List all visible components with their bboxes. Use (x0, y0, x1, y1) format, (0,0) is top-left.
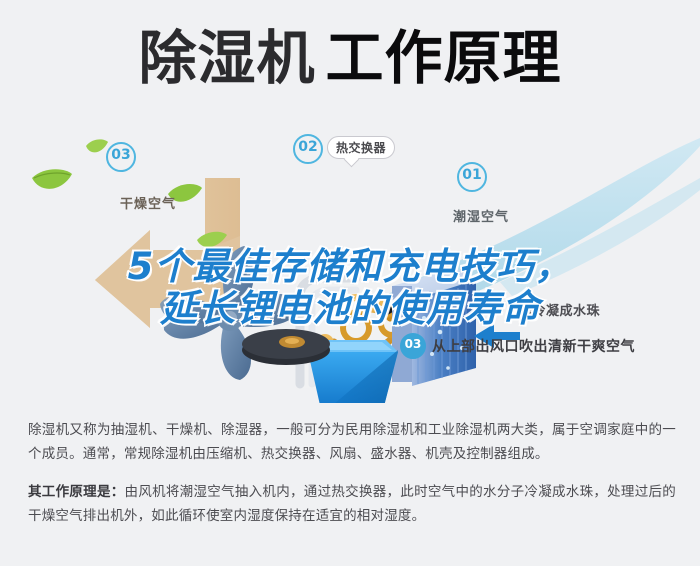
article-body: 除湿机又称为抽湿机、干燥机、除湿器，一般可分为民用除湿机和工业除湿机两大类，属于… (28, 418, 676, 542)
badge-03-note: 03 (400, 333, 426, 359)
heat-exchanger (392, 268, 476, 386)
body-paragraph-2-lead: 其工作原理是： (28, 484, 125, 500)
label-dry-air: 干燥空气 (120, 193, 176, 212)
label-humid-air: 潮湿空气 (453, 206, 509, 225)
badge-02: 02 (293, 134, 323, 164)
page-title: 除湿机工作原理 (0, 26, 700, 90)
badge-01: 01 (457, 162, 487, 192)
body-paragraph-2: 其工作原理是：由风机将潮湿空气抽入机内，通过热交换器，此时空气中的水分子冷凝成水… (28, 480, 676, 528)
note-step-03: 03 从上部出风口吹出清新干爽空气 (400, 333, 635, 359)
page-title-part2: 工作原理 (326, 24, 562, 92)
label-heat-exchanger-text: 热交换器 (336, 141, 386, 155)
compressor-base (242, 329, 330, 365)
badge-03-left: 03 (106, 142, 136, 172)
note-step-02-partial: 器冷凝成水珠 (519, 300, 600, 319)
page-root: 除湿机工作原理 (0, 0, 700, 566)
body-paragraph-2-rest: 由风机将潮湿空气抽入机内，通过热交换器，此时空气中的水分子冷凝成水珠，处理过后的… (28, 484, 676, 524)
label-water-tank: 水箱 (331, 262, 357, 279)
page-title-part1: 除湿机 (138, 24, 315, 92)
label-heat-exchanger: 热交换器 (327, 136, 395, 159)
body-paragraph-1: 除湿机又称为抽湿机、干燥机、除湿器，一般可分为民用除湿机和工业除湿机两大类，属于… (28, 418, 676, 466)
note-step-03-text: 从上部出风口吹出清新干爽空气 (432, 336, 635, 356)
dehumidifier-diagram: 03 干燥空气 02 热交换器 01 潮湿空气 水箱 器冷凝成水珠 03 从上部… (0, 118, 700, 403)
